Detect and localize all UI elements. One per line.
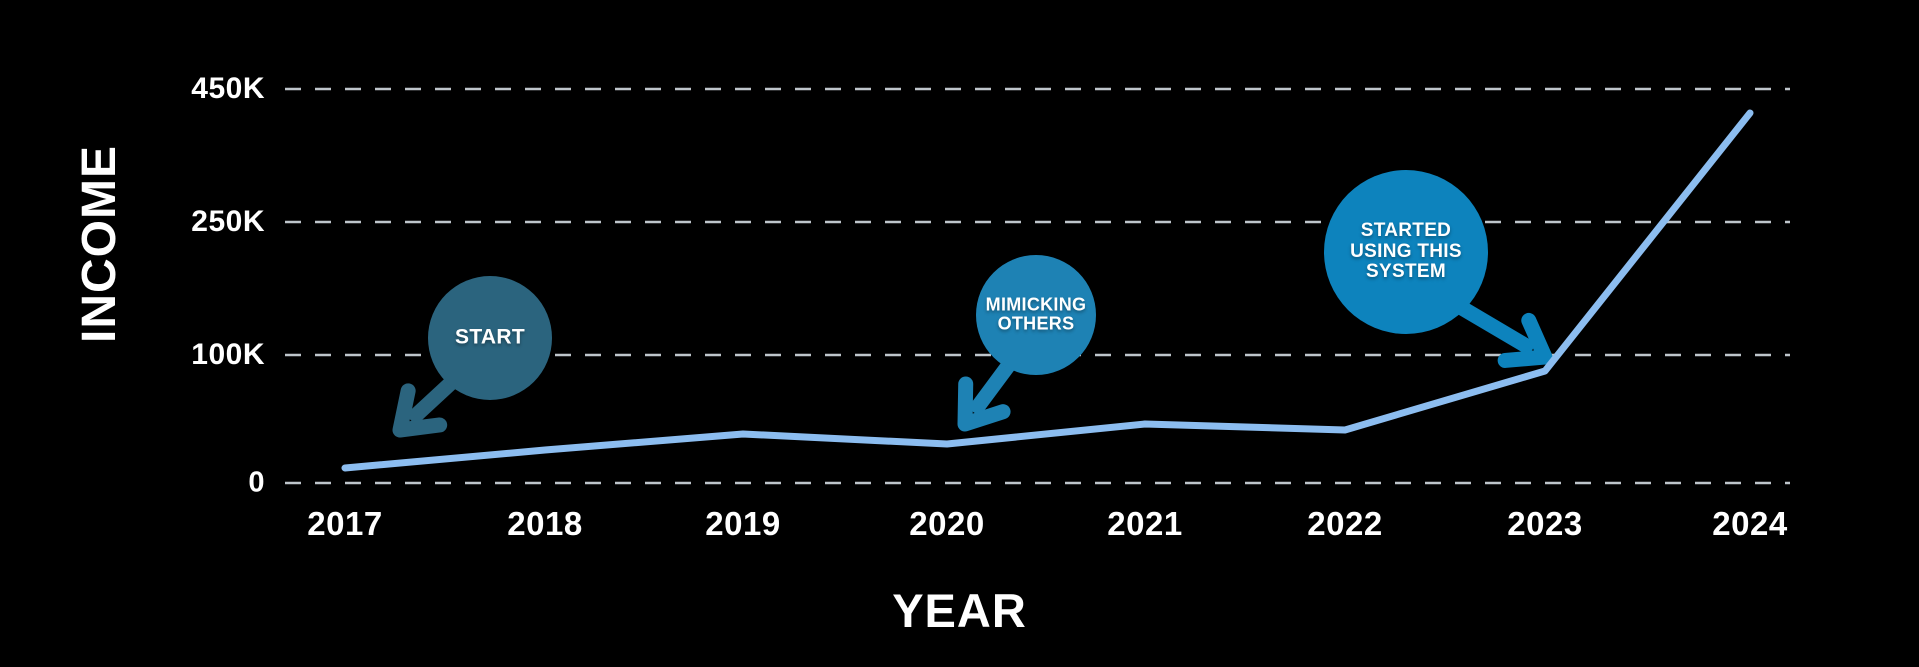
annotation-bubbles-group [428,170,1488,400]
x-tick-label-2018: 2018 [507,505,582,543]
x-tick-label-2019: 2019 [705,505,780,543]
arrow-shaft-started-using-this-system [1462,308,1526,346]
x-tick-label-2023: 2023 [1507,505,1582,543]
arrow-shaft-start [416,382,452,415]
y-tick-label-100K: 100K [0,338,265,372]
x-tick-label-2022: 2022 [1307,505,1382,543]
annotation-hit-start[interactable] [428,276,552,400]
y-axis-title: INCOME [72,145,127,343]
x-tick-label-2021: 2021 [1107,505,1182,543]
x-tick-label-2017: 2017 [307,505,382,543]
annotation-arrow-started-using-this-system [1462,308,1545,360]
annotation-arrow-start [400,382,452,430]
x-axis-title: YEAR [0,583,1919,638]
y-tick-label-0: 0 [0,467,265,500]
y-tick-label-450K: 450K [0,72,265,106]
arrow-shaft-mimicking-others [978,366,1008,406]
annotation-arrow-mimicking-others [965,366,1008,424]
annotation-hit-started-using-this-system[interactable] [1324,170,1488,334]
x-tick-label-2024: 2024 [1712,505,1787,543]
annotation-hit-mimicking-others[interactable] [976,255,1096,375]
y-tick-label-250K: 250K [0,205,265,239]
income-line-chart-svg [0,0,1919,667]
chart-container: INCOME YEAR 450K250K100K0 20172018201920… [0,0,1919,667]
x-tick-label-2020: 2020 [909,505,984,543]
